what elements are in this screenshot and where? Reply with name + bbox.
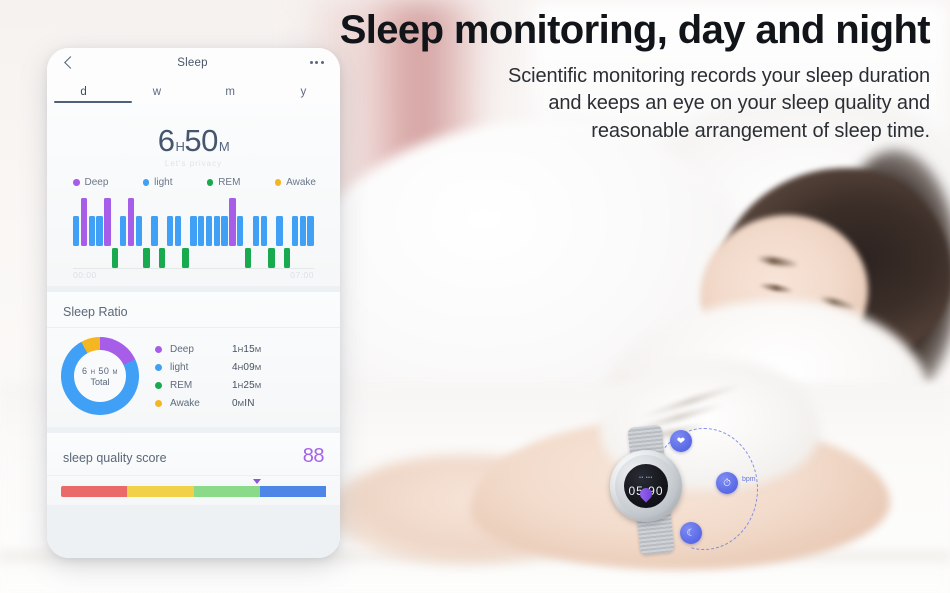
bar-column	[221, 194, 227, 278]
legend-dot-light	[143, 179, 150, 186]
sleep-stage-bar-chart: 00:00 07:00	[71, 194, 316, 278]
bar-column	[112, 194, 118, 278]
score-label: sleep quality score	[63, 451, 167, 465]
badge-side-label: bpm	[742, 476, 756, 483]
ratio-dot-light	[155, 364, 162, 371]
score-gradient-bar	[61, 486, 326, 497]
watermark-text: Let's privacy	[61, 159, 326, 168]
donut-hours: 6	[82, 366, 88, 376]
bar-column	[206, 194, 212, 278]
ratio-label: Awake	[170, 398, 232, 409]
chevron-left-icon[interactable]	[64, 56, 77, 69]
legend-dot-deep	[73, 179, 80, 186]
bar-column	[276, 194, 282, 278]
bar-column	[182, 194, 188, 278]
active-tab-underline	[54, 101, 132, 103]
bar-light	[89, 216, 95, 246]
bar-light	[214, 216, 220, 246]
sleep-ratio-card: Sleep Ratio 6 H 50 M Total Deep1H15Mligh…	[47, 292, 340, 427]
ratio-value: 0MIN	[232, 398, 255, 409]
bar-column	[198, 194, 204, 278]
bar-column	[96, 194, 102, 278]
bar-light	[253, 216, 259, 246]
ratio-value: 1H25M	[232, 380, 261, 391]
chart-legend: Deep light REM Awake	[61, 168, 326, 194]
donut-center: 6 H 50 M Total	[74, 350, 126, 402]
bar-column	[261, 194, 267, 278]
subtitle-line: and keeps an eye on your sleep quality a…	[180, 90, 930, 118]
bar-light	[190, 216, 196, 246]
score-value: 88	[303, 445, 324, 468]
chart-axis-labels: 00:00 07:00	[73, 270, 314, 280]
bar-column	[89, 194, 95, 278]
chart-axis-line	[73, 268, 314, 269]
ratio-label: Deep	[170, 344, 232, 355]
sleep-quality-score-card: sleep quality score 88	[47, 433, 340, 505]
bar-light	[167, 216, 173, 246]
sleep-ratio-row: Deep1H15M	[155, 344, 322, 355]
legend-label-awake: Awake	[286, 177, 316, 188]
bar-light	[292, 216, 298, 246]
bar-column	[253, 194, 259, 278]
legend-label-rem: REM	[218, 177, 240, 188]
bar-columns	[71, 194, 316, 278]
bar-column	[104, 194, 110, 278]
score-segment	[194, 486, 260, 497]
score-segment	[61, 486, 127, 497]
bar-light	[73, 216, 79, 246]
watch-face: •• ••• 05 90	[624, 464, 668, 508]
watch-case: •• ••• 05 90	[610, 450, 682, 522]
ratio-dot-deep	[155, 346, 162, 353]
watch-face-top-row: •• •••	[624, 475, 668, 481]
bar-rem	[159, 248, 165, 268]
sleep-ratio-row: light4H09M	[155, 362, 322, 373]
donut-center-total-label: Total	[90, 377, 109, 387]
divider	[47, 475, 340, 476]
bar-deep	[229, 198, 235, 246]
sleep-ratio-title: Sleep Ratio	[61, 302, 326, 327]
app-screen: 6H50M Let's privacy Deep light REM Awake…	[47, 103, 340, 558]
bar-rem	[284, 248, 290, 268]
donut-minutes-unit: M	[112, 370, 118, 376]
bar-column	[175, 194, 181, 278]
bar-column	[81, 194, 87, 278]
subtitle: Scientific monitoring records your sleep…	[180, 63, 930, 146]
legend-label-deep: Deep	[85, 177, 109, 188]
bar-deep	[81, 198, 87, 246]
bar-rem	[245, 248, 251, 268]
badge-moon-icon: ☾	[680, 522, 702, 544]
bar-light	[198, 216, 204, 246]
badge-timer-icon: ⏱	[716, 472, 738, 494]
legend-item-deep: Deep	[73, 177, 108, 188]
duration-hours: 6	[158, 123, 175, 158]
legend-dot-awake	[275, 179, 282, 186]
bar-light	[206, 216, 212, 246]
ratio-value: 1H15M	[232, 344, 261, 355]
score-segment	[260, 486, 326, 497]
bar-column	[151, 194, 157, 278]
bar-column	[245, 194, 251, 278]
legend-item-awake: Awake	[275, 177, 316, 188]
bar-column	[214, 194, 220, 278]
bar-light	[307, 216, 313, 246]
bar-rem	[268, 248, 274, 268]
bar-rem	[182, 248, 188, 268]
score-marker	[253, 479, 261, 484]
bar-column	[292, 194, 298, 278]
badge-heart-icon: ❤	[670, 430, 692, 452]
bar-light	[276, 216, 282, 246]
bar-column	[307, 194, 313, 278]
bar-column	[284, 194, 290, 278]
bar-rem	[112, 248, 118, 268]
donut-center-duration: 6 H 50 M	[82, 366, 118, 376]
sleep-ratio-donut-chart: 6 H 50 M Total	[61, 337, 139, 415]
score-segment	[127, 486, 193, 497]
sleep-ratio-body: 6 H 50 M Total Deep1H15Mlight4H09MREM1H2…	[61, 337, 326, 419]
ratio-value: 4H09M	[232, 362, 261, 373]
bar-column	[167, 194, 173, 278]
bar-rem	[143, 248, 149, 268]
bar-light	[221, 216, 227, 246]
ratio-dot-rem	[155, 382, 162, 389]
bar-column	[300, 194, 306, 278]
ratio-dot-awake	[155, 400, 162, 407]
ratio-label: light	[170, 362, 232, 373]
ratio-label: REM	[170, 380, 232, 391]
bar-column	[237, 194, 243, 278]
subtitle-line: Scientific monitoring records your sleep…	[180, 63, 930, 91]
subtitle-line: reasonable arrangement of sleep time.	[180, 118, 930, 146]
bar-light	[175, 216, 181, 246]
bar-deep	[128, 198, 134, 246]
smartwatch-overlay: ❤ ⏱ ☾ bpm •• ••• 05 90	[588, 424, 768, 564]
bar-light	[237, 216, 243, 246]
legend-label-light: light	[154, 177, 172, 188]
divider	[47, 327, 340, 328]
sleep-ratio-row: REM1H25M	[155, 380, 322, 391]
score-header: sleep quality score 88	[61, 443, 326, 475]
donut-hours-unit: H	[91, 370, 96, 376]
headline: Sleep monitoring, day and night	[180, 8, 930, 53]
marketing-copy: Sleep monitoring, day and night Scientif…	[180, 8, 930, 146]
bar-light	[120, 216, 126, 246]
bar-light	[136, 216, 142, 246]
bar-light	[151, 216, 157, 246]
legend-item-rem: REM	[207, 177, 241, 188]
bar-column	[136, 194, 142, 278]
bar-light	[261, 216, 267, 246]
bar-column	[229, 194, 235, 278]
bar-column	[268, 194, 274, 278]
bar-light	[300, 216, 306, 246]
bar-column	[190, 194, 196, 278]
bar-column	[159, 194, 165, 278]
axis-label-end: 07:00	[290, 270, 314, 280]
donut-minutes: 50	[98, 366, 109, 376]
bar-column	[73, 194, 79, 278]
bar-column	[120, 194, 126, 278]
sleep-ratio-rows: Deep1H15Mlight4H09MREM1H25MAwake0MIN	[155, 344, 326, 409]
sleep-ratio-row: Awake0MIN	[155, 398, 322, 409]
watch-bezel: •• ••• 05 90	[615, 455, 677, 517]
bar-column	[128, 194, 134, 278]
bar-light	[96, 216, 102, 246]
legend-dot-rem	[207, 179, 214, 186]
bar-column	[143, 194, 149, 278]
bar-deep	[104, 198, 110, 246]
axis-label-start: 00:00	[73, 270, 97, 280]
legend-item-light: light	[143, 177, 173, 188]
